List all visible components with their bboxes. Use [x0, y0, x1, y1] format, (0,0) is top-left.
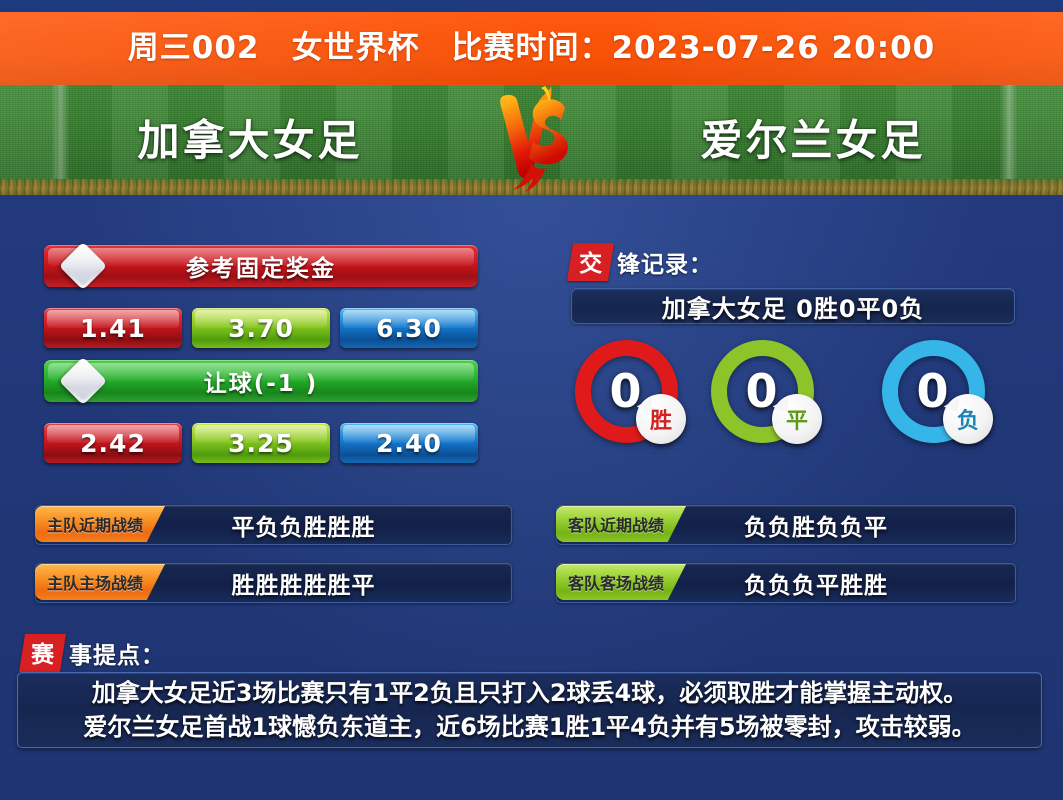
home-recent-form-label: 主队近期战绩 — [35, 506, 165, 542]
handicap-title: 让球(-1 ) — [44, 360, 478, 402]
home-team-name: 加拿大女足 — [60, 85, 440, 195]
h2h-summary-strip: 加拿大女足 0胜0平0负 — [571, 288, 1015, 324]
home-recent-form-value: 平负负胜胜胜 — [172, 508, 376, 542]
odds-handicap-win-value: 2.42 — [44, 423, 182, 463]
tips-heading-text: 事提点： — [69, 636, 165, 670]
h2h-tag-text: 交 — [579, 244, 602, 278]
home-venue-form-label: 主队主场战绩 — [35, 564, 165, 600]
h2h-heading: 交 锋记录： — [570, 243, 713, 281]
odds-fixed-win-value: 1.41 — [44, 308, 182, 348]
tips-line-2: 爱尔兰女足首战1球憾负东道主，近6场比赛1胜1平4负并有5场被零封，攻击较弱。 — [83, 710, 975, 744]
odds-handicap-lose[interactable]: 2.40 — [340, 423, 478, 463]
h2h-ring-draw-badge: 平 — [772, 394, 822, 444]
away-venue-form-value: 负负负平胜胜 — [684, 566, 888, 600]
odds-handicap-draw-value: 3.25 — [192, 423, 330, 463]
fixed-odds-header: 参考固定奖金 — [44, 245, 478, 287]
odds-fixed-win[interactable]: 1.41 — [44, 308, 182, 348]
h2h-ring-lose: 0 负 — [882, 340, 985, 443]
h2h-ring-win: 0 胜 — [575, 340, 678, 443]
odds-fixed-draw[interactable]: 3.70 — [192, 308, 330, 348]
odds-fixed-lose[interactable]: 6.30 — [340, 308, 478, 348]
tips-tag-text: 赛 — [31, 635, 54, 669]
odds-fixed-lose-value: 6.30 — [340, 308, 478, 348]
handicap-header: 让球(-1 ) — [44, 360, 478, 402]
versus-flame-icon — [487, 84, 577, 196]
h2h-ring-draw: 0 平 — [711, 340, 814, 443]
away-team-name: 爱尔兰女足 — [623, 85, 1003, 195]
odds-handicap-lose-value: 2.40 — [340, 423, 478, 463]
fixed-odds-title: 参考固定奖金 — [44, 245, 478, 287]
tips-box: 加拿大女足近3场比赛只有1平2负且只打入2球丢4球，必须取胜才能掌握主动权。 爱… — [17, 672, 1042, 748]
h2h-summary-text: 加拿大女足 0胜0平0负 — [662, 289, 924, 324]
away-recent-form-label: 客队近期战绩 — [556, 506, 686, 542]
tips-line-1: 加拿大女足近3场比赛只有1平2负且只打入2球丢4球，必须取胜才能掌握主动权。 — [92, 676, 968, 710]
away-venue-form-label: 客队客场战绩 — [556, 564, 686, 600]
odds-handicap-draw[interactable]: 3.25 — [192, 423, 330, 463]
away-recent-form-value: 负负胜负负平 — [684, 508, 888, 542]
odds-fixed-draw-value: 3.70 — [192, 308, 330, 348]
match-header-title: 周三002 女世界杯 比赛时间：2023-07-26 20:00 — [0, 12, 1063, 85]
h2h-ring-lose-badge: 负 — [943, 394, 993, 444]
h2h-tag-badge: 交 — [567, 243, 614, 281]
tips-tag-badge: 赛 — [19, 634, 66, 672]
h2h-ring-win-badge: 胜 — [636, 394, 686, 444]
odds-handicap-win[interactable]: 2.42 — [44, 423, 182, 463]
tips-heading: 赛 事提点： — [22, 634, 165, 672]
match-preview-card: 周三002 女世界杯 比赛时间：2023-07-26 20:00 加拿大女足 爱… — [0, 0, 1063, 800]
match-header-bar: 周三002 女世界杯 比赛时间：2023-07-26 20:00 — [0, 12, 1063, 85]
home-venue-form-value: 胜胜胜胜胜平 — [172, 566, 376, 600]
h2h-heading-text: 锋记录： — [617, 245, 713, 279]
